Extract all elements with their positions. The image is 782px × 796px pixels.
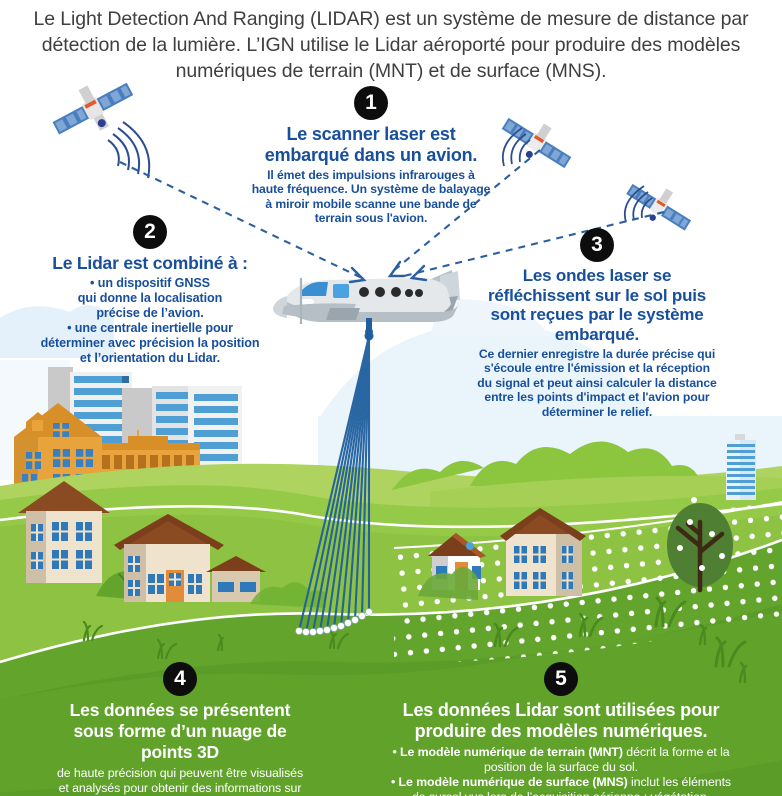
step-2-body: • un dispositif GNSS qui donne la locali… — [25, 276, 275, 366]
step-3-body: Ce dernier enregistre la durée précise q… — [476, 347, 718, 419]
step-1: 1 Le scanner laser est embarqué dans un … — [251, 86, 491, 226]
step-5-bullet: • Le modèle numérique de surface (MNS) i… — [390, 775, 732, 796]
step-2-body-line: précise de l’avion. — [25, 306, 275, 321]
step-5-bullet-bold: • Le modèle numérique de terrain (MNT) — [392, 745, 623, 759]
step-3-title: Les ondes laser se réfléchissent sur le … — [476, 266, 718, 344]
step-2-body-line: • une centrale inertielle pour — [25, 321, 275, 336]
step-2-badge: 2 — [133, 215, 167, 249]
step-4-badge: 4 — [163, 662, 197, 696]
step-2-body-line: qui donne la localisation — [25, 291, 275, 306]
lidar-infographic: Le Light Detection And Ranging (LIDAR) e… — [0, 0, 782, 796]
step-2-body-line: et l’orientation du Lidar. — [25, 351, 275, 366]
step-2-body-line: • un dispositif GNSS — [25, 276, 275, 291]
step-5-badge: 5 — [544, 662, 578, 696]
step-4-title: Les données se présentent sous forme d’u… — [55, 700, 305, 763]
right-tower — [726, 434, 756, 500]
intro-paragraph: Le Light Detection And Ranging (LIDAR) e… — [28, 6, 754, 84]
step-3: 3 Les ondes laser se réfléchissent sur l… — [476, 228, 718, 419]
step-5-bullet-bold: • Le modèle numérique de surface (MNS) — [391, 775, 628, 789]
step-2: 2 Le Lidar est combiné à : • un disposit… — [25, 215, 275, 366]
step-3-badge: 3 — [580, 228, 614, 262]
step-2-body-line: déterminer avec précision la position — [25, 336, 275, 351]
step-5-title: Les données Lidar sont utilisées pour pr… — [390, 700, 732, 742]
step-1-body: Il émet des impulsions infrarouges à hau… — [251, 168, 491, 226]
step-1-title: Le scanner laser est embarqué dans un av… — [251, 124, 491, 165]
step-1-badge: 1 — [354, 86, 388, 120]
step-5-body: • Le modèle numérique de terrain (MNT) d… — [390, 745, 732, 796]
step-5: 5 Les données Lidar sont utilisées pour … — [390, 662, 732, 796]
step-2-title: Le Lidar est combiné à : — [25, 253, 275, 273]
step-4-body: de haute précision qui peuvent être visu… — [55, 766, 305, 796]
step-4: 4 Les données se présentent sous forme d… — [55, 662, 305, 796]
step-5-bullet: • Le modèle numérique de terrain (MNT) d… — [390, 745, 732, 775]
